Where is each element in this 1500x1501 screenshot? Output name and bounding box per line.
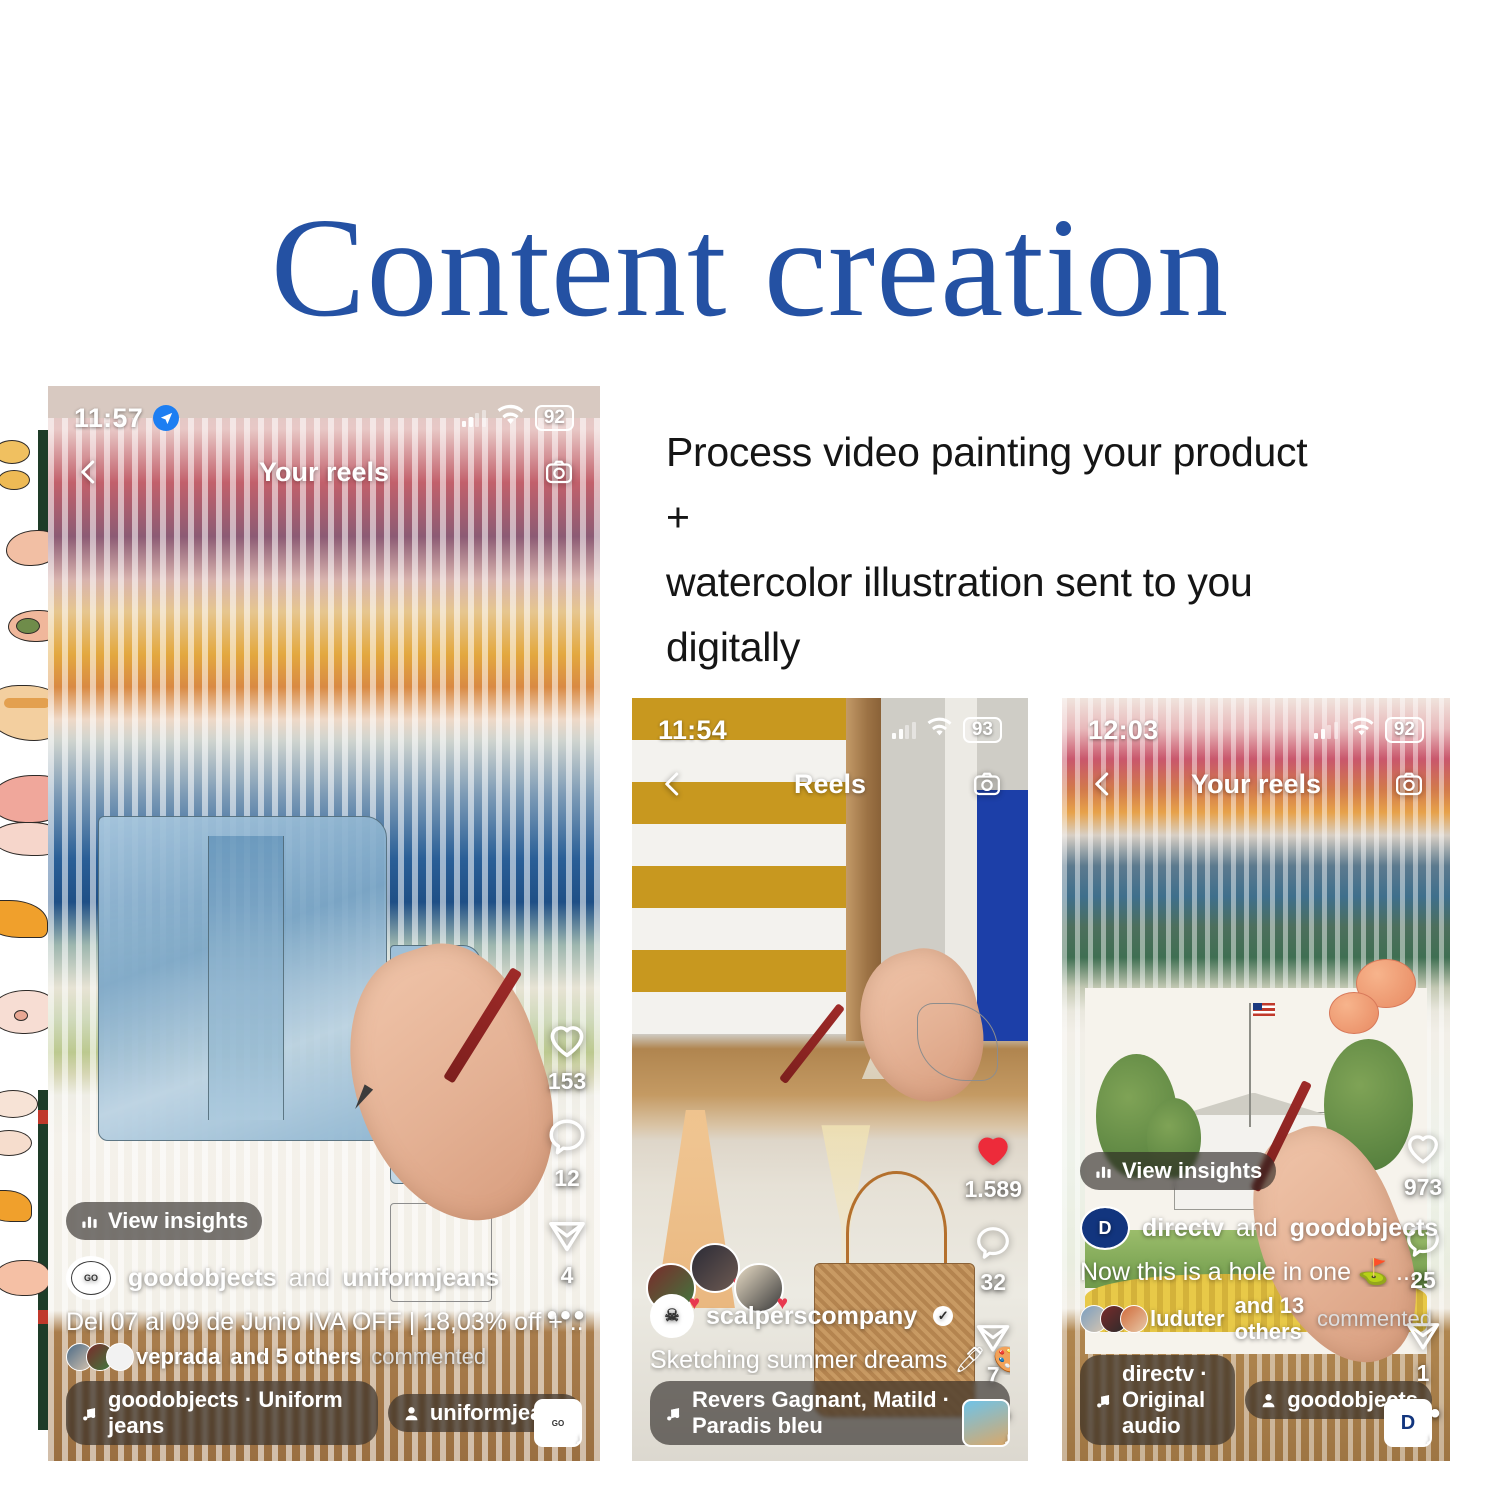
music-note-icon	[664, 1404, 683, 1423]
comment-count: 12	[554, 1165, 580, 1192]
reel-caption[interactable]: Now this is a hole in one ⛳ ...	[1080, 1258, 1432, 1287]
audio-cover-thumbnail[interactable]: D ♪	[1384, 1399, 1432, 1447]
music-note-icon: ♪	[1426, 1429, 1433, 1447]
camera-icon[interactable]	[1390, 765, 1428, 803]
bar-chart-icon	[1094, 1162, 1113, 1181]
chevron-left-icon[interactable]	[70, 453, 108, 491]
status-bar-1: 11:57 92	[48, 386, 600, 450]
flagpole	[1249, 1003, 1251, 1128]
denim-jacket-painting	[98, 816, 387, 1141]
comment-bubble-icon	[973, 1223, 1013, 1263]
reel-pill-row-3: directv · Original audio goodobjects D ♪	[1080, 1355, 1432, 1445]
instagram-reel-screenshot-3: 12:03 92 Your reels 973 25 1	[1062, 698, 1450, 1461]
commenters-line[interactable]: veprada and 5 others commented	[66, 1343, 582, 1371]
collab-username[interactable]: uniformjeans	[342, 1264, 499, 1293]
description-line-3: watercolor illustration sent to you	[666, 552, 1456, 612]
comment-bubble-icon	[545, 1115, 589, 1159]
wifi-icon	[927, 715, 952, 745]
battery-indicator: 92	[1385, 717, 1424, 743]
music-note-icon: ♪	[576, 1429, 583, 1447]
audio-pill-label: directv · Original audio	[1122, 1361, 1221, 1439]
reel-author-line-2[interactable]: ☠ scalperscompany ✓	[650, 1294, 1010, 1338]
commenter-suffix: and 5 others	[230, 1344, 361, 1370]
view-insights-button[interactable]: View insights	[66, 1202, 262, 1240]
blue-panel	[977, 790, 1028, 1042]
reel-nav-title: Your reels	[48, 457, 600, 488]
watercolor-food-5	[16, 618, 40, 634]
description-line-2: +	[666, 487, 1456, 547]
battery-indicator: 93	[963, 717, 1002, 743]
commenters-line[interactable]: luduter and 13 others commented	[1080, 1293, 1432, 1345]
like-action[interactable]: 1.589	[964, 1128, 1022, 1203]
audio-pill[interactable]: directv · Original audio	[1080, 1355, 1235, 1445]
comment-action[interactable]: 12	[545, 1115, 589, 1192]
reel-pill-row-1: goodobjects · Uniform jeans uniformjeans…	[66, 1381, 582, 1445]
commenter-name[interactable]: luduter	[1150, 1306, 1225, 1332]
avatar: D	[1080, 1206, 1130, 1250]
wifi-icon	[497, 402, 524, 434]
author-username[interactable]: scalperscompany	[706, 1302, 917, 1331]
author-conjunction: and	[1236, 1214, 1278, 1243]
view-insights-label: View insights	[108, 1208, 248, 1234]
avatar: ☠	[650, 1294, 694, 1338]
instagram-reel-screenshot-2: 11:54 93 Reels 1.589 32 7	[632, 698, 1028, 1461]
reel-navbar-1: Your reels	[48, 444, 600, 500]
cellular-signal-icon	[462, 410, 486, 427]
like-action[interactable]: 153	[544, 1016, 590, 1095]
music-note-icon	[1094, 1391, 1113, 1410]
comment-action[interactable]: 32	[973, 1223, 1013, 1296]
audio-pill[interactable]: Revers Gagnant, Matild · Paradis bleu	[650, 1381, 1010, 1445]
reaction-avatar-2	[690, 1243, 740, 1293]
cellular-signal-icon	[1314, 722, 1338, 739]
view-insights-button[interactable]: View insights	[1080, 1152, 1276, 1190]
reel-navbar-3: Your reels	[1062, 756, 1450, 812]
like-count: 153	[548, 1068, 586, 1095]
reel-meta-2: ☠ scalperscompany ✓ Sketching summer dre…	[632, 1288, 1028, 1461]
reel-caption[interactable]: Del 07 al 09 de Junio IVA OFF | 18,03% o…	[66, 1308, 582, 1337]
reel-meta-1: View insights GO goodobjects and uniform…	[48, 1202, 600, 1461]
audio-pill-label: Revers Gagnant, Matild · Paradis bleu	[692, 1387, 996, 1439]
status-clock: 11:57	[74, 403, 143, 434]
collab-username[interactable]: goodobjects	[1290, 1214, 1439, 1243]
view-insights-label: View insights	[1122, 1158, 1262, 1184]
commenter-facepile	[66, 1343, 126, 1371]
description-line-4: digitally	[666, 617, 1456, 677]
watercolor-food-7	[4, 698, 50, 708]
music-note-icon	[80, 1404, 99, 1423]
camera-icon[interactable]	[968, 765, 1006, 803]
american-flag	[1253, 1003, 1275, 1016]
watercolor-food-16	[0, 1260, 50, 1296]
commenter-suffix: and 13 others	[1235, 1293, 1307, 1345]
reel-pill-row-2: Revers Gagnant, Matild · Paradis bleu ♪	[650, 1381, 1010, 1445]
heart-filled-icon	[972, 1128, 1014, 1170]
watercolor-food-2	[0, 470, 30, 490]
status-clock: 11:54	[658, 715, 727, 746]
watercolor-food-1	[0, 440, 30, 464]
like-count: 1.589	[964, 1176, 1022, 1203]
person-icon	[402, 1404, 421, 1423]
reel-navbar-2: Reels	[632, 756, 1028, 812]
commenter-facepile	[1080, 1305, 1140, 1333]
description-block: Process video painting your product + wa…	[666, 422, 1456, 682]
reel-caption[interactable]: Sketching summer dreams 🖊 🎨. Make our ..…	[650, 1346, 1010, 1375]
author-conjunction: and	[289, 1264, 331, 1293]
watercolor-food-10	[0, 900, 48, 938]
audio-cover-thumbnail[interactable]: ♪	[962, 1399, 1010, 1447]
bar-chart-icon	[80, 1212, 99, 1231]
avatar: GO	[66, 1256, 116, 1300]
status-bar-3: 12:03 92	[1062, 698, 1450, 762]
audio-pill-label: goodobjects · Uniform jeans	[108, 1387, 364, 1439]
audio-cover-thumbnail[interactable]: GO ♪	[534, 1399, 582, 1447]
camera-icon[interactable]	[540, 453, 578, 491]
watercolor-food-14	[0, 1130, 32, 1156]
commented-label: commented	[371, 1344, 486, 1370]
cellular-signal-icon	[892, 722, 916, 739]
description-line-1: Process video painting your product	[666, 422, 1456, 482]
audio-pill[interactable]: goodobjects · Uniform jeans	[66, 1381, 378, 1445]
chevron-left-icon[interactable]	[654, 765, 692, 803]
chevron-left-icon[interactable]	[1084, 765, 1122, 803]
reel-author-line-3[interactable]: D directv and goodobjects	[1080, 1206, 1432, 1250]
battery-indicator: 92	[535, 405, 574, 431]
watercolor-food-13	[0, 1090, 38, 1118]
commented-label: commented	[1317, 1306, 1432, 1332]
instagram-reel-screenshot-1: 11:57 92 Your reels 153 12	[48, 386, 600, 1461]
verified-badge-icon: ✓	[933, 1306, 953, 1326]
author-username[interactable]: goodobjects	[128, 1264, 277, 1293]
commenter-name[interactable]: veprada	[136, 1344, 220, 1370]
page-title: Content creation	[0, 196, 1500, 338]
watercolor-food-12	[14, 1010, 28, 1021]
author-username[interactable]: directv	[1142, 1214, 1224, 1243]
reel-meta-3: View insights D directv and goodobjects …	[1062, 1152, 1450, 1461]
person-icon	[1259, 1391, 1278, 1410]
peach-fruit-2	[1329, 992, 1379, 1034]
location-arrow-icon	[153, 405, 179, 431]
music-note-icon: ♪	[1004, 1429, 1011, 1447]
watercolor-food-15	[0, 1190, 32, 1222]
status-bar-2: 11:54 93	[632, 698, 1028, 762]
wifi-icon	[1349, 715, 1374, 745]
heart-outline-icon	[544, 1016, 590, 1062]
reel-author-line-1[interactable]: GO goodobjects and uniformjeans	[66, 1256, 582, 1300]
status-clock: 12:03	[1088, 715, 1159, 746]
